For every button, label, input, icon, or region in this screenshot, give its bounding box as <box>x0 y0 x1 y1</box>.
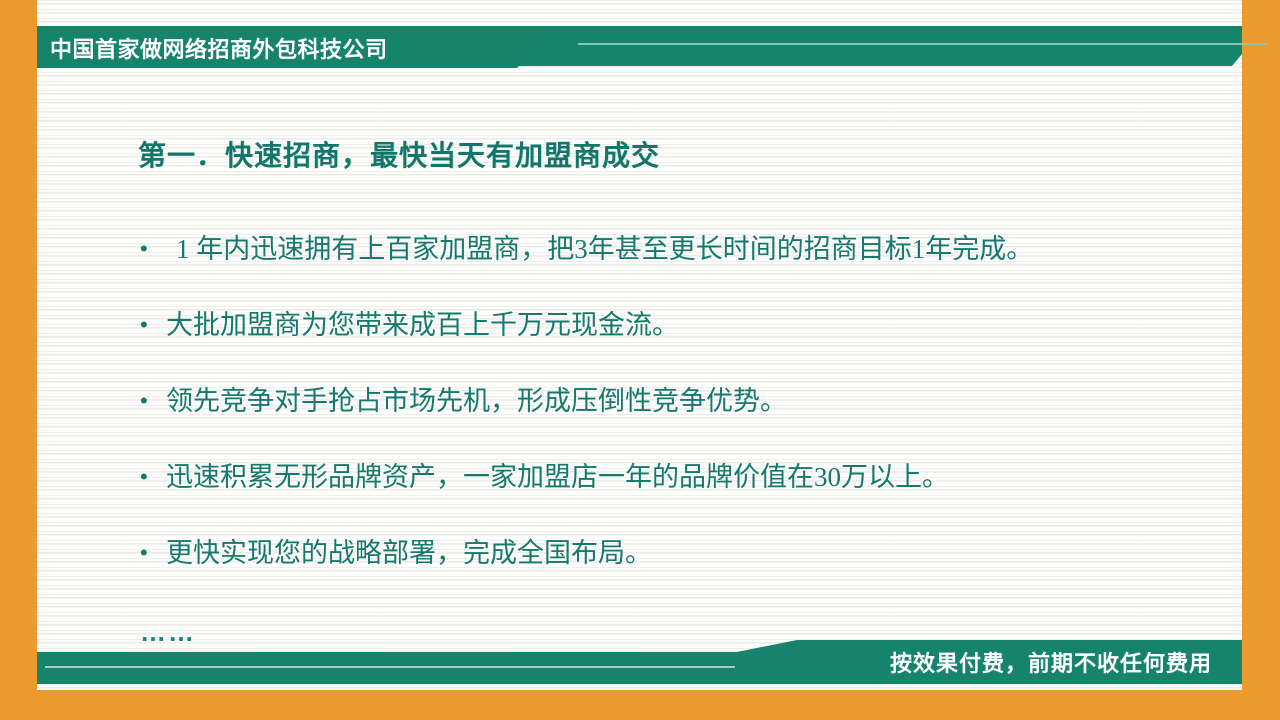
bullet-list: • 1 年内迅速拥有上百家加盟商，把3年甚至更长时间的招商目标1年完成。 • 大… <box>140 232 1230 612</box>
list-item-text: 1 年内迅速拥有上百家加盟商，把3年甚至更长时间的招商目标1年完成。 <box>166 232 1230 266</box>
company-tagline: 中国首家做网络招商外包科技公司 <box>50 32 388 64</box>
list-item: • 1 年内迅速拥有上百家加盟商，把3年甚至更长时间的招商目标1年完成。 <box>140 232 1230 308</box>
list-item-text: 迅速积累无形品牌资产，一家加盟店一年的品牌价值在30万以上。 <box>166 460 1230 494</box>
bullet-marker-icon: • <box>140 232 166 266</box>
slide-content: 第一．快速招商，最快当天有加盟商成交 • 1 年内迅速拥有上百家加盟商，把3年甚… <box>37 72 1242 640</box>
header-band: 中国首家做网络招商外包科技公司 <box>37 26 1242 72</box>
slide: 中国首家做网络招商外包科技公司 第一．快速招商，最快当天有加盟商成交 • 1 年… <box>0 0 1280 720</box>
page-title: 第一．快速招商，最快当天有加盟商成交 <box>138 134 660 174</box>
footer-band: 按效果付费，前期不收任何费用 <box>37 640 1242 690</box>
bullet-marker-icon: • <box>140 460 166 494</box>
footer-hairline <box>45 666 735 668</box>
list-item-text: 领先竞争对手抢占市场先机，形成压倒性竞争优势。 <box>166 384 1230 418</box>
list-item: • 更快实现您的战略部署，完成全国布局。 <box>140 536 1230 612</box>
bullet-marker-icon: • <box>140 308 166 342</box>
list-item: • 大批加盟商为您带来成百上千万元现金流。 <box>140 308 1230 384</box>
list-item-text: 大批加盟商为您带来成百上千万元现金流。 <box>166 308 1230 342</box>
list-item: • 领先竞争对手抢占市场先机，形成压倒性竞争优势。 <box>140 384 1230 460</box>
list-item: • 迅速积累无形品牌资产，一家加盟店一年的品牌价值在30万以上。 <box>140 460 1230 536</box>
header-title-block: 中国首家做网络招商外包科技公司 <box>37 26 557 72</box>
bullet-marker-icon: • <box>140 384 166 418</box>
header-hairline <box>578 43 1268 45</box>
bullet-marker-icon: • <box>140 536 166 570</box>
footer-slogan: 按效果付费，前期不收任何费用 <box>890 640 1212 684</box>
list-item-text: 更快实现您的战略部署，完成全国布局。 <box>166 536 1230 570</box>
